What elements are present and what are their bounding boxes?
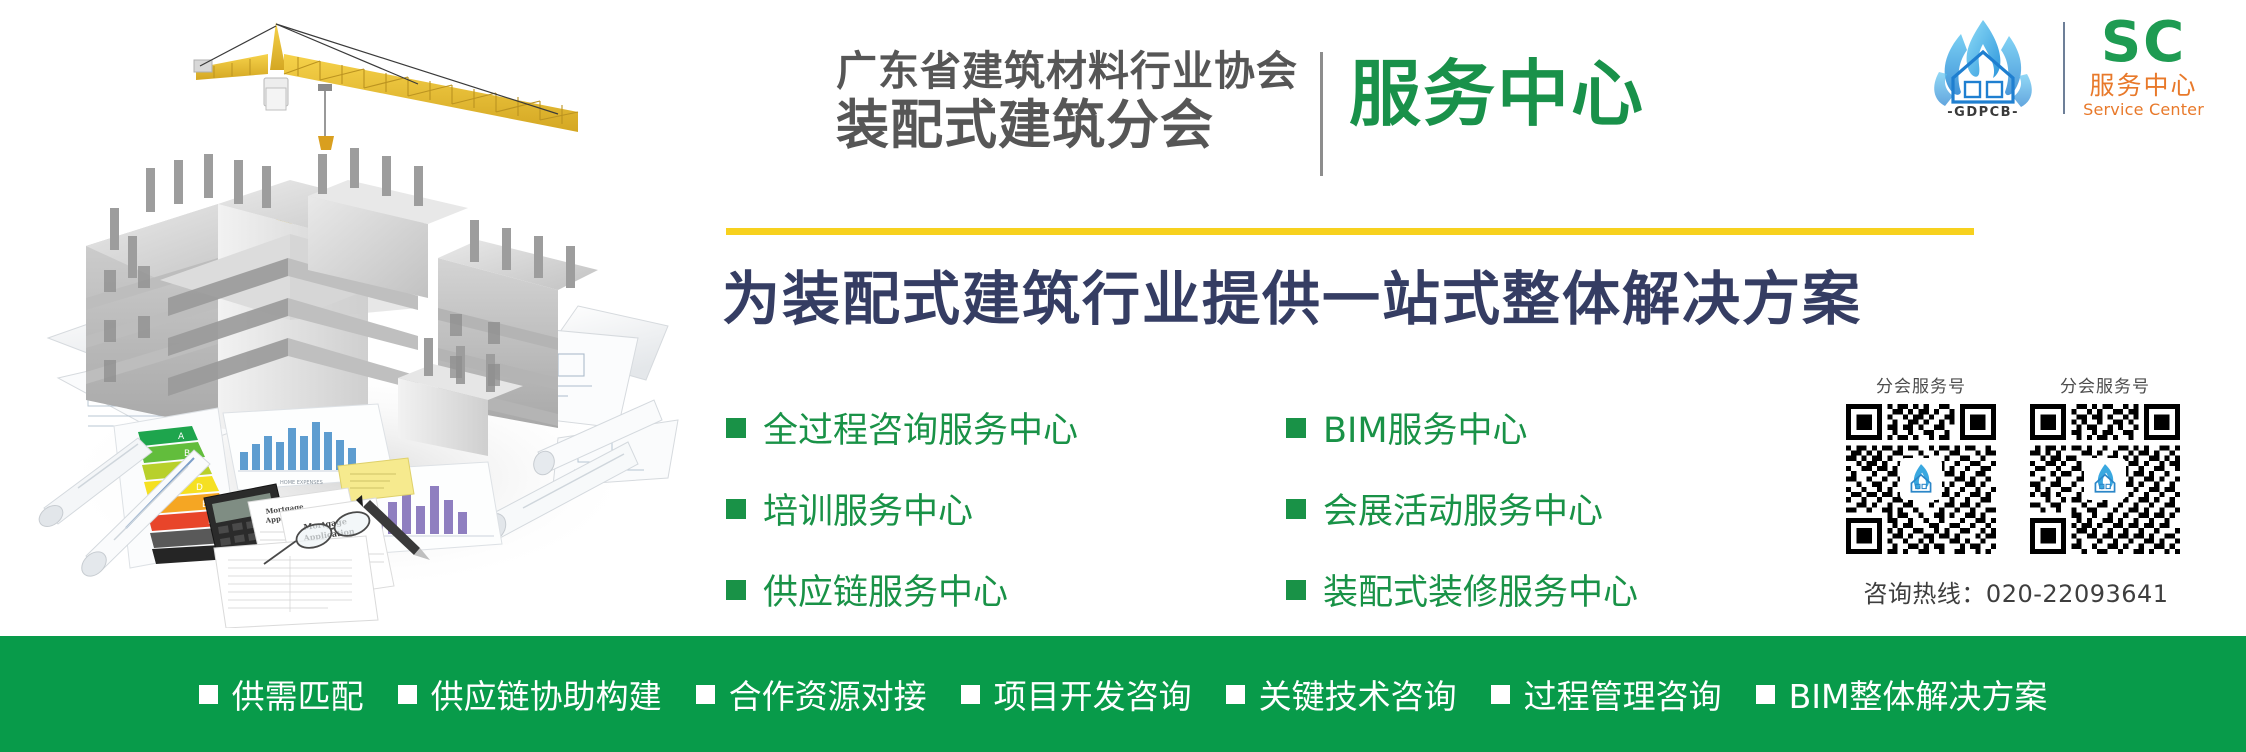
sc-english-label: Service Center	[2083, 100, 2204, 119]
slogan: 为装配式建筑行业提供一站式整体解决方案	[722, 252, 1862, 336]
square-bullet-icon	[726, 418, 746, 438]
service-item-label: 全过程咨询服务中心	[763, 402, 1078, 453]
service-item-label: BIM服务中心	[1323, 402, 1528, 453]
tag-label: 项目开发咨询	[994, 670, 1192, 718]
brand-logo: -GDPCB- SC 服务中心 Service Center	[1917, 14, 2204, 122]
service-center-list: 全过程咨询服务中心 BIM服务中心 培训服务中心 会展活动服务中心 供应链服务中…	[726, 402, 1706, 615]
hotline-text: 咨询热线：020-22093641	[1846, 574, 2186, 609]
tag-partner-resource-matching[interactable]: 合作资源对接	[696, 670, 927, 718]
square-bullet-icon	[726, 580, 746, 600]
tag-key-technology-consulting[interactable]: 关键技术咨询	[1226, 670, 1457, 718]
tag-bim-total-solution[interactable]: BIM整体解决方案	[1756, 670, 2048, 718]
square-bullet-icon	[961, 685, 980, 704]
construction-site-illustration: AB CD EF GH	[18, 8, 698, 628]
association-name-line2: 装配式建筑分会	[836, 96, 1298, 155]
service-item-label: 培训服务中心	[763, 483, 973, 534]
svg-text:D: D	[196, 483, 203, 493]
tag-label: 合作资源对接	[729, 670, 927, 718]
qr-code-label: 分会服务号	[2030, 372, 2180, 397]
house-flame-icon: -GDPCB-	[1917, 16, 2049, 120]
tag-supply-chain-support[interactable]: 供应链协助构建	[398, 670, 662, 718]
square-bullet-icon	[1286, 580, 1306, 600]
tag-label: 供需匹配	[232, 670, 364, 718]
service-item-training[interactable]: 培训服务中心	[726, 483, 1286, 534]
square-bullet-icon	[1226, 685, 1245, 704]
title-separator	[1320, 52, 1323, 176]
square-bullet-icon	[398, 685, 417, 704]
square-bullet-icon	[199, 685, 218, 704]
promotional-banner: AB CD EF GH	[0, 0, 2246, 752]
square-bullet-icon	[1491, 685, 1510, 704]
qr-code-icon[interactable]	[2030, 404, 2180, 554]
association-names: 广东省建筑材料行业协会 装配式建筑分会	[836, 48, 1298, 155]
square-bullet-icon	[1756, 685, 1775, 704]
service-item-full-process-consulting[interactable]: 全过程咨询服务中心	[726, 402, 1286, 453]
tag-supply-demand-matching[interactable]: 供需匹配	[199, 670, 364, 718]
service-item-label: 装配式装修服务中心	[1323, 564, 1638, 615]
tag-label: 供应链协助构建	[431, 670, 662, 718]
svg-text:A: A	[178, 432, 185, 442]
qr-code-cell-1: 分会服务号	[1846, 372, 1996, 554]
tag-project-development-consulting[interactable]: 项目开发咨询	[961, 670, 1192, 718]
qr-code-cell-2: 分会服务号	[2030, 372, 2180, 554]
service-item-bim[interactable]: BIM服务中心	[1286, 402, 1706, 453]
association-name-line1: 广东省建筑材料行业协会	[836, 48, 1298, 96]
service-item-supply-chain[interactable]: 供应链服务中心	[726, 564, 1286, 615]
sc-abbreviation: SC	[2083, 16, 2204, 69]
service-item-exhibition[interactable]: 会展活动服务中心	[1286, 483, 1706, 534]
yellow-divider	[726, 228, 1974, 235]
tag-label: BIM整体解决方案	[1789, 670, 2048, 718]
square-bullet-icon	[1286, 418, 1306, 438]
page-title: 服务中心	[1349, 48, 1645, 142]
svg-text:HOME EXPENSES: HOME EXPENSES	[280, 480, 323, 486]
square-bullet-icon	[696, 685, 715, 704]
association-title-row: 广东省建筑材料行业协会 装配式建筑分会 服务中心	[836, 48, 1645, 176]
square-bullet-icon	[726, 499, 746, 519]
sc-logo-block: SC 服务中心 Service Center	[2079, 16, 2204, 119]
bottom-tag-bar: 供需匹配 供应链协助构建 合作资源对接 项目开发咨询 关键技术咨询 过程管理咨询…	[0, 636, 2246, 752]
qr-code-block: 分会服务号	[1846, 372, 2186, 609]
sc-chinese-label: 服务中心	[2083, 72, 2204, 101]
tag-label: 过程管理咨询	[1524, 670, 1722, 718]
house-flame-icon	[1900, 458, 1942, 500]
logo-divider	[2063, 22, 2065, 114]
tag-label: 关键技术咨询	[1259, 670, 1457, 718]
service-item-prefab-decoration[interactable]: 装配式装修服务中心	[1286, 564, 1706, 615]
tag-process-management-consulting[interactable]: 过程管理咨询	[1491, 670, 1722, 718]
qr-code-label: 分会服务号	[1846, 372, 1996, 397]
service-item-label: 会展活动服务中心	[1323, 483, 1603, 534]
house-flame-icon	[2084, 458, 2126, 500]
qr-code-icon[interactable]	[1846, 404, 1996, 554]
service-item-label: 供应链服务中心	[763, 564, 1008, 615]
square-bullet-icon	[1286, 499, 1306, 519]
logo-caption: -GDPCB-	[1917, 105, 2049, 120]
